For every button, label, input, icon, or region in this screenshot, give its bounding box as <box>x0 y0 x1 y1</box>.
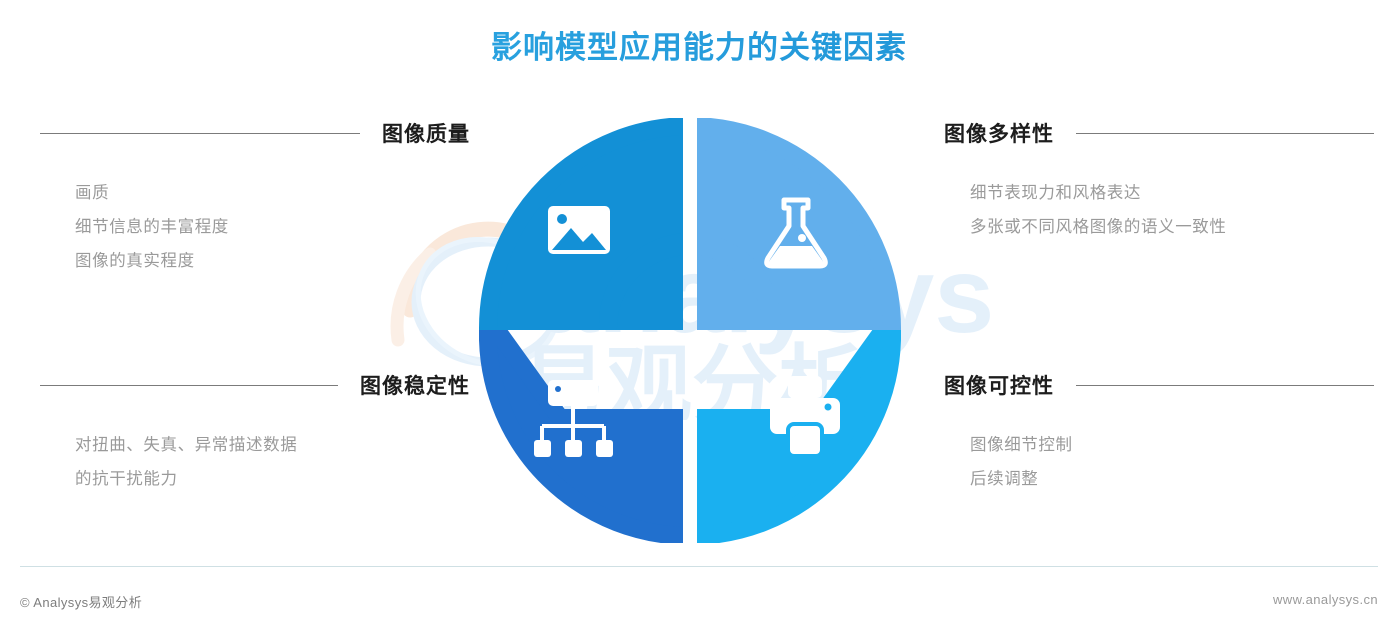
footer-divider <box>20 566 1378 567</box>
divider-line <box>1076 133 1374 134</box>
description-line: 细节信息的丰富程度 <box>75 210 470 244</box>
quadrant-image-quality: 图像质量 画质 细节信息的丰富程度 图像的真实程度 <box>40 118 470 278</box>
description-line: 图像的真实程度 <box>75 244 470 278</box>
quadrant-image-diversity: 图像多样性 细节表现力和风格表达 多张或不同风格图像的语义一致性 <box>944 118 1374 244</box>
quadrant-image-controllability: 图像可控性 图像细节控制 后续调整 <box>944 370 1374 496</box>
quadrant-image-stability: 图像稳定性 对扭曲、失真、异常描述数据 的抗干扰能力 <box>40 370 470 496</box>
wheel-segment-image-stability[interactable] <box>488 318 690 536</box>
wheel-segment-image-controllability[interactable] <box>690 318 892 536</box>
quadrant-description: 对扭曲、失真、异常描述数据 的抗干扰能力 <box>40 428 470 496</box>
quadrant-header: 图像质量 <box>40 118 470 148</box>
quadrant-title: 图像稳定性 <box>360 370 470 400</box>
quadrant-title: 图像可控性 <box>944 370 1054 400</box>
description-line: 后续调整 <box>970 462 1374 496</box>
quadrant-header: 图像多样性 <box>944 118 1374 148</box>
description-line: 画质 <box>75 176 470 210</box>
slide-canvas: 影响模型应用能力的关键因素 analysys 易观分析 <box>0 0 1398 617</box>
divider-line <box>40 133 360 134</box>
quadrant-description: 画质 细节信息的丰富程度 图像的真实程度 <box>40 176 470 278</box>
divider-line <box>1076 385 1374 386</box>
description-line: 细节表现力和风格表达 <box>970 176 1374 210</box>
segmented-wheel-diagram <box>440 118 940 543</box>
quadrant-title: 图像多样性 <box>944 118 1054 148</box>
page-title: 影响模型应用能力的关键因素 <box>0 22 1398 67</box>
divider-line <box>40 385 338 386</box>
description-line: 的抗干扰能力 <box>75 462 470 496</box>
quadrant-title: 图像质量 <box>382 118 470 148</box>
quadrant-header: 图像可控性 <box>944 370 1374 400</box>
footer-website[interactable]: www.analysys.cn <box>1273 592 1378 607</box>
quadrant-header: 图像稳定性 <box>40 370 470 400</box>
description-line: 对扭曲、失真、异常描述数据 <box>75 428 470 462</box>
quadrant-description: 细节表现力和风格表达 多张或不同风格图像的语义一致性 <box>944 176 1374 244</box>
description-line: 多张或不同风格图像的语义一致性 <box>970 210 1374 244</box>
footer-copyright: © Analysys易观分析 <box>20 592 142 611</box>
description-line: 图像细节控制 <box>970 428 1374 462</box>
picture-icon <box>548 206 610 254</box>
quadrant-description: 图像细节控制 后续调整 <box>944 428 1374 496</box>
